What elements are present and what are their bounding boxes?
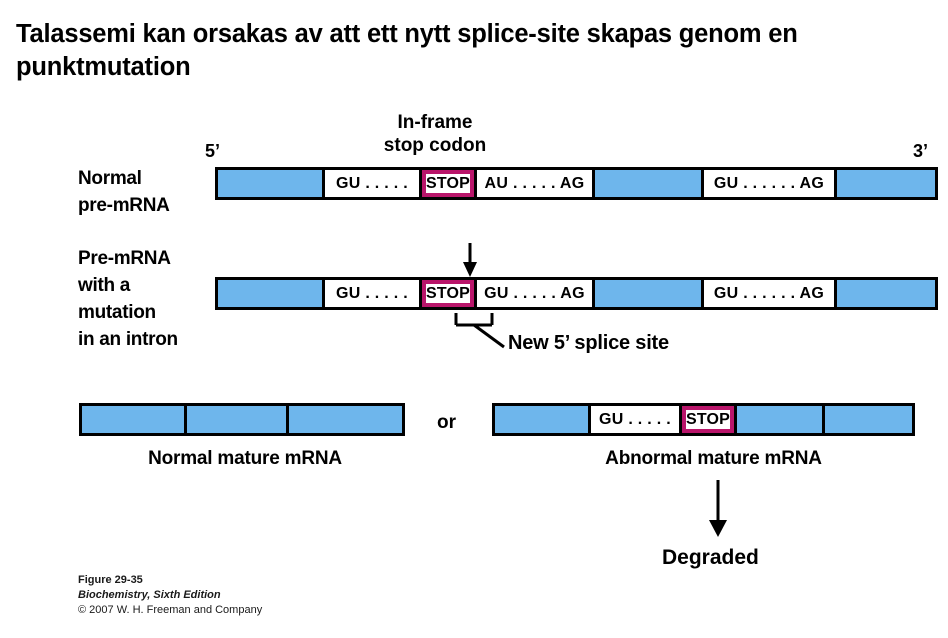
- exon-segment: [734, 406, 822, 433]
- intron-segment: GU . . . . . AG: [474, 280, 592, 307]
- exon-segment: [592, 280, 701, 307]
- row-label-line: pre-mRNA: [78, 193, 218, 220]
- stop-codon-label: STOP: [682, 406, 734, 433]
- exon-segment: [82, 406, 184, 433]
- mutation-arrow-icon: [463, 243, 477, 277]
- stop-codon-label: STOP: [422, 170, 474, 197]
- figure-number: Figure 29-35: [78, 573, 262, 588]
- row-label-line: Normal: [78, 166, 218, 193]
- degraded-arrow-icon: [709, 480, 727, 537]
- stop-codon-label: STOP: [422, 280, 474, 307]
- in-frame-stop-codon-line1: In-frame: [345, 112, 525, 135]
- intron-segment: AU . . . . . AG: [474, 170, 592, 197]
- transcript-bar-normal-pre-mrna: GU . . . . .STOPAU . . . . . AGGU . . . …: [215, 167, 938, 200]
- three-prime-label: 3’: [913, 141, 928, 162]
- row-label-line: Pre-mRNA: [78, 246, 228, 273]
- exon-segment: [822, 406, 912, 433]
- in-frame-stop-codon-callout: In-frame stop codon: [345, 112, 525, 158]
- exon-segment: [218, 280, 322, 307]
- row-label-mutant-pre-mrna: Pre-mRNA with a mutation in an intron: [78, 246, 228, 354]
- five-prime-label: 5’: [205, 141, 220, 162]
- degraded-label: Degraded: [662, 546, 759, 570]
- new-splice-site-label: New 5’ splice site: [508, 332, 669, 355]
- in-frame-stop-codon-line2: stop codon: [345, 135, 525, 158]
- row-label-line: with a: [78, 273, 228, 300]
- new-splice-site-bracket-icon: [456, 313, 492, 325]
- intron-segment: GU . . . . .: [322, 280, 419, 307]
- transcript-bar-mutant-pre-mrna: GU . . . . .STOPGU . . . . . AGGU . . . …: [215, 277, 938, 310]
- exon-segment: [834, 170, 935, 197]
- intron-segment: GU . . . . . . AG: [701, 170, 834, 197]
- figure-credit: Figure 29-35 Biochemistry, Sixth Edition…: [78, 573, 262, 619]
- abnormal-mature-mrna-caption: Abnormal mature mRNA: [492, 448, 935, 470]
- exon-segment: [286, 406, 402, 433]
- stop-codon-segment: STOP: [679, 406, 734, 433]
- intron-segment: GU . . . . . . AG: [701, 280, 834, 307]
- intron-segment: GU . . . . .: [588, 406, 679, 433]
- stop-codon-segment: STOP: [419, 280, 474, 307]
- new-splice-site-leader-line: [474, 325, 504, 347]
- or-label: or: [437, 412, 456, 434]
- row-label-line: mutation: [78, 300, 228, 327]
- figure-book-title: Biochemistry, Sixth Edition: [78, 588, 262, 603]
- transcript-bar-normal-mature-mrna: [79, 403, 405, 436]
- exon-segment: [218, 170, 322, 197]
- stop-codon-segment: STOP: [419, 170, 474, 197]
- row-label-line: in an intron: [78, 327, 228, 354]
- exon-segment: [592, 170, 701, 197]
- transcript-bar-abnormal-mature-mrna: GU . . . . .STOP: [492, 403, 915, 436]
- exon-segment: [495, 406, 588, 433]
- row-label-normal-pre-mrna: Normal pre-mRNA: [78, 166, 218, 220]
- exon-segment: [184, 406, 286, 433]
- figure-copyright: © 2007 W. H. Freeman and Company: [78, 603, 262, 618]
- exon-segment: [834, 280, 935, 307]
- normal-mature-mrna-caption: Normal mature mRNA: [79, 448, 411, 470]
- intron-segment: GU . . . . .: [322, 170, 419, 197]
- page-title: Talassemi kan orsakas av att ett nytt sp…: [16, 18, 916, 83]
